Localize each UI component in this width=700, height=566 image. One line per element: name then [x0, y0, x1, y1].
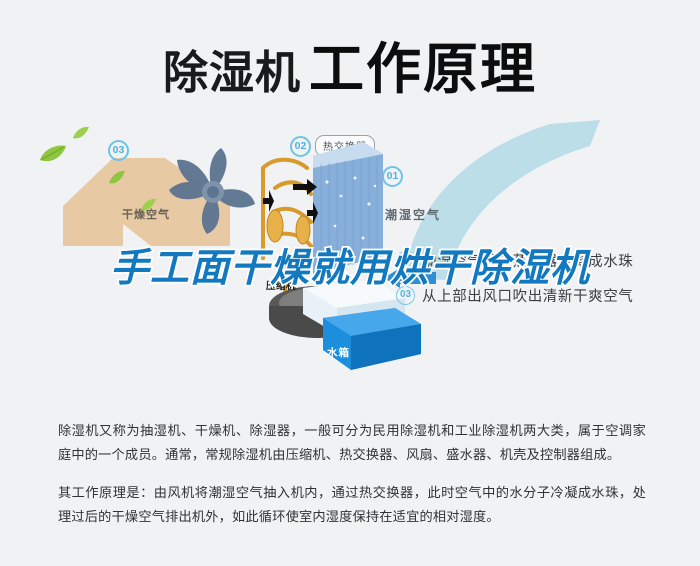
- legend-item: 02 潮湿空气经过蒸发器冷凝成水珠: [396, 243, 696, 278]
- leaf-icon: [140, 198, 157, 214]
- page-title-part-a: 除湿机: [163, 47, 301, 98]
- diagram-badge-03: 03: [108, 140, 129, 161]
- legend-list: 02 潮湿空气经过蒸发器冷凝成水珠 03 从上部出风口吹出清新干爽空气: [396, 243, 696, 313]
- poster-root: 除湿机工作原理 干燥空气 潮湿空气 03 02 01 热交换器: [0, 0, 700, 566]
- leaf-icon: [108, 170, 126, 187]
- compressor-label: 压缩机: [266, 278, 296, 292]
- page-title-part-b: 工作原理: [309, 38, 537, 100]
- page-title: 除湿机工作原理: [0, 24, 700, 104]
- leaf-icon: [72, 126, 90, 142]
- water-tank-label: 水箱: [327, 345, 350, 360]
- legend-item: 03 从上部出风口吹出清新干爽空气: [396, 278, 696, 313]
- description-paragraph-1: 除湿机又称为抽湿机、干燥机、除湿器，一般可分为民用除湿机和工业除湿机两大类，属于…: [58, 419, 646, 466]
- leaf-icon: [38, 144, 68, 166]
- legend-text-03: 从上部出风口吹出清新干爽空气: [422, 285, 633, 306]
- legend-badge-03: 03: [396, 286, 415, 305]
- legend-text-02: 潮湿空气经过蒸发器冷凝成水珠: [422, 250, 633, 271]
- description-paragraph-2: 其工作原理是：由风机将潮湿空气抽入机内，通过热交换器，此时空气中的水分子冷凝成水…: [58, 481, 646, 528]
- description-block: 除湿机又称为抽湿机、干燥机、除湿器，一般可分为民用除湿机和工业除湿机两大类，属于…: [58, 419, 646, 528]
- legend-badge-02: 02: [396, 251, 415, 270]
